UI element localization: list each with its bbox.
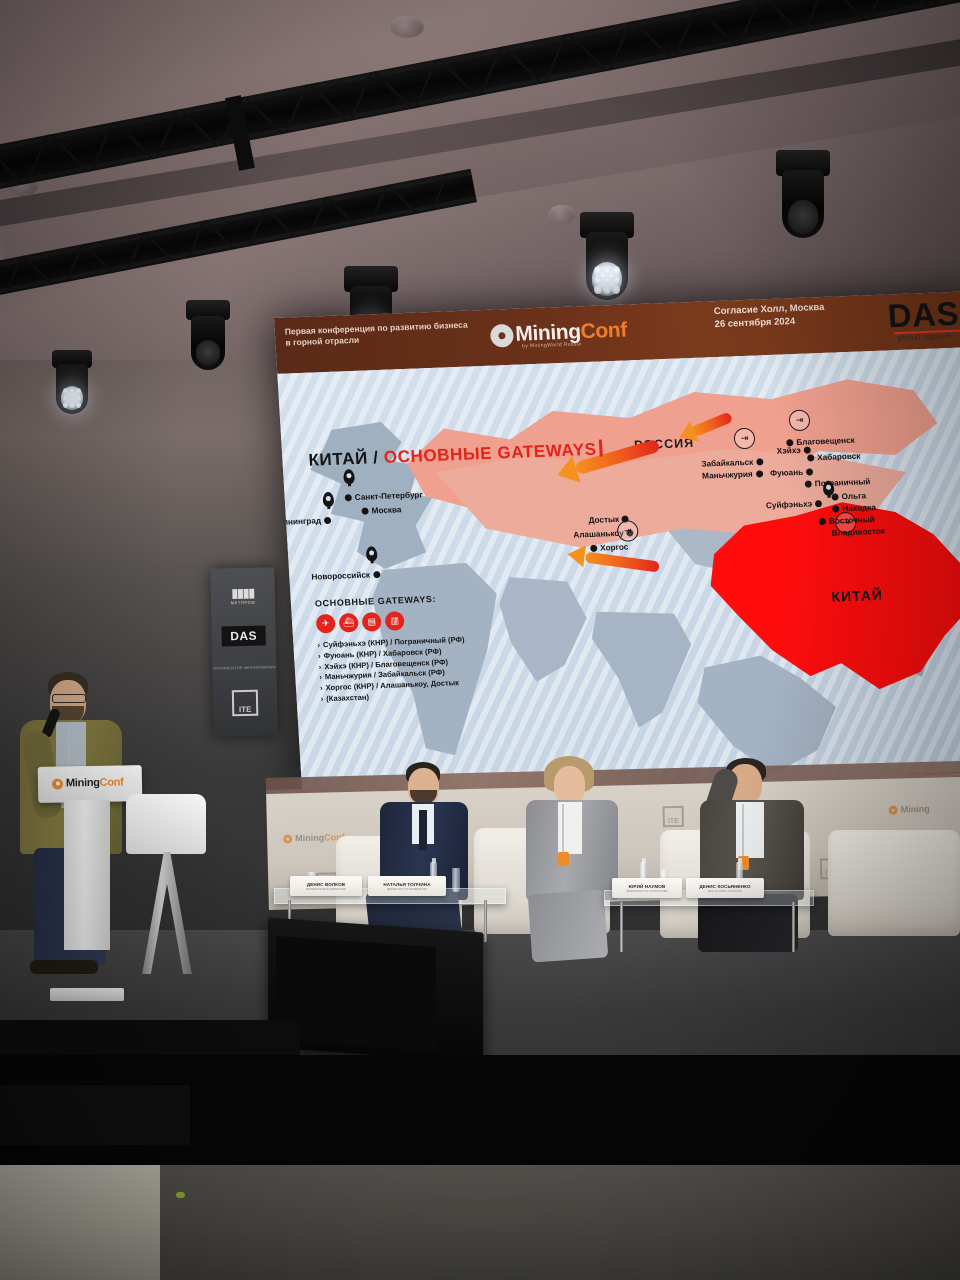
city-dot (807, 454, 814, 461)
logo-main: Mining (66, 777, 100, 790)
nameplate-1: ДЕНИС ВОЛКОВ ГЕНЕРАЛЬНЫЙ ДИРЕКТОР (290, 876, 362, 896)
backdrop-ite-logo-3: ITE (663, 806, 685, 828)
table-leg (484, 900, 487, 942)
city-dot (806, 468, 813, 475)
panelist-1 (364, 762, 474, 952)
slide-title-prefix: КИТАЙ / (308, 448, 384, 470)
city-label: Хэйхэ (777, 446, 802, 456)
panelist-2-head (554, 766, 585, 804)
das-tagline: global logistik (889, 333, 960, 343)
brand-accent: Conf (580, 318, 628, 343)
city-label: Ольга (841, 491, 866, 501)
gear-icon (283, 834, 292, 843)
ceiling-dome-light-3 (548, 205, 576, 224)
nameplate-2: НАТАЛЬЯ ТОЛЧИНА ДИРЕКТОР ПО РАЗВИТИЮ (368, 876, 446, 896)
city-dot (590, 545, 597, 552)
presenter-glasses (52, 694, 86, 703)
gear-icon (493, 326, 511, 344)
venue-info: Согласие Холл, Москва 26 сентября 2024 (714, 302, 826, 332)
city-label: Хоргос (600, 543, 629, 553)
rail-freight-icon: ⇥ (795, 416, 803, 425)
slide-tagline: Первая конференция по развитию бизнеса в… (285, 319, 476, 349)
sponsor-logo-metprom: ▮▮▮▮МЕТПРОМ (211, 585, 275, 605)
city-dot (832, 505, 839, 512)
city-olga: Ольга (831, 491, 866, 501)
city-khorgos: Хоргос (590, 543, 629, 553)
city-label: Фуюань (770, 468, 804, 478)
city-label: Достык (588, 515, 619, 525)
logo-accent: Conf (100, 776, 124, 788)
bar-stool-1 (126, 794, 206, 854)
legend-icon-row: ✈ ⛴ ▤ ▥ (316, 607, 513, 633)
map-legend: ОСНОВНЫЕ GATEWAYS: ✈ ⛴ ▤ ▥ Суйфэньхэ (КН… (315, 591, 517, 705)
air-freight-icon: ✈ (316, 614, 336, 634)
nameplate-role: DAS GLOBAL LOGISTIK (708, 889, 743, 893)
truck-freight-icon: ▤ (362, 612, 382, 632)
sponsor-logo-das: DAS (211, 625, 275, 646)
city-label: Восточный (829, 515, 875, 526)
sponsor-logo-ite: ITE (213, 689, 278, 717)
city-dot (815, 500, 822, 507)
city-dot (345, 494, 352, 501)
confidence-monitor (268, 917, 483, 1062)
panelist-1-tie (419, 810, 427, 850)
nameplate-role: ГЕНЕРАЛЬНЫЙ ДИРЕКТОР (306, 887, 347, 891)
legend-list: Суйфэньхэ (КНР) / Пограничный (РФ) Фуюан… (317, 633, 517, 705)
rail-freight-icon: ⇥ (740, 434, 748, 443)
city-dot (324, 517, 331, 524)
gear-icon (52, 778, 63, 789)
podium-logo: MiningConf (52, 776, 124, 789)
rail-freight-icon: ⇥ (624, 526, 632, 535)
panelist-3-shirt (736, 802, 764, 858)
das-wordmark: DAS (887, 298, 960, 332)
city-fuyuan: Фуюань (770, 467, 814, 478)
panelist-3-lanyard (742, 804, 744, 858)
conference-stage-photo: Первая конференция по развитию бизнеса в… (0, 0, 960, 1280)
stage-step (0, 1085, 190, 1145)
city-dot (755, 470, 762, 477)
city-dot (819, 518, 826, 525)
metprom-wordmark: МЕТПРОМ (211, 599, 275, 605)
sea-freight-icon: ⛴ (339, 613, 359, 633)
logo-main: Mining (901, 804, 930, 815)
panelist-2-legs (528, 889, 609, 962)
brand-subtitle: by MiningWorld Russia (522, 341, 582, 349)
marble-floor-shadow (160, 1165, 960, 1280)
city-dot (373, 571, 380, 578)
city-label: Маньчжурия (702, 470, 753, 481)
city-dot (786, 439, 793, 446)
gear-icon (889, 805, 898, 814)
table-leg (620, 902, 623, 952)
presenter-shoes (30, 960, 98, 974)
nameplate-3: ЮРИЙ НАУМОВ ДИРЕКТОР ПО ЛОГИСТИКЕ (612, 878, 682, 898)
podium-column (64, 800, 110, 950)
map-canvas: РОССИЯ КИТАЙ (277, 347, 960, 797)
armchair-4 (828, 830, 960, 936)
panelist-2-badge (558, 852, 569, 866)
monitor-screen (276, 936, 436, 1051)
podium-panel: MiningConf (38, 765, 143, 803)
panelist-3 (692, 758, 814, 958)
projection-screen: Первая конференция по развитию бизнеса в… (274, 291, 960, 797)
floor-debris (176, 1192, 185, 1198)
city-dot (805, 480, 812, 487)
nameplate-4: ДЕНИС КОСЬЯНЕНКО DAS GLOBAL LOGISTIK (686, 878, 764, 898)
backdrop-logo-5: Mining (889, 804, 930, 815)
city-label: Москва (371, 505, 401, 515)
nameplate-role: ДИРЕКТОР ПО РАЗВИТИЮ (387, 887, 427, 891)
city-nakhodka: Находка (832, 503, 876, 514)
panelist-2-lanyard (562, 804, 564, 854)
city-dot (831, 493, 838, 500)
ceiling-dome-light-1 (390, 16, 424, 38)
das-logo: DAS global logistik (887, 298, 960, 343)
slide-content: Первая конференция по развитию бизнеса в… (274, 291, 960, 797)
region-label-china: КИТАЙ (831, 587, 883, 605)
city-dot (361, 507, 368, 514)
city-label: Хабаровск (817, 452, 861, 463)
logo-main: Mining (295, 833, 324, 844)
city-moscow: Москва (361, 505, 401, 516)
sponsor-caption: ОРГАНИЗАТОР МЕРОПРИЯТИЯ (212, 665, 276, 671)
city-label: Суйфэньхэ (766, 499, 813, 510)
table-leg (792, 902, 795, 952)
panelist-2 (516, 756, 626, 966)
podium-base (50, 988, 124, 1001)
nameplate-role: ДИРЕКТОР ПО ЛОГИСТИКЕ (626, 889, 667, 893)
city-label: Находка (842, 503, 876, 513)
sponsor-banner: ▮▮▮▮МЕТПРОМ DAS ОРГАНИЗАТОР МЕРОПРИЯТИЯ … (210, 567, 278, 736)
rail-freight-icon: ▥ (385, 611, 405, 631)
tumbler-1 (452, 868, 460, 892)
city-dot (756, 458, 763, 465)
